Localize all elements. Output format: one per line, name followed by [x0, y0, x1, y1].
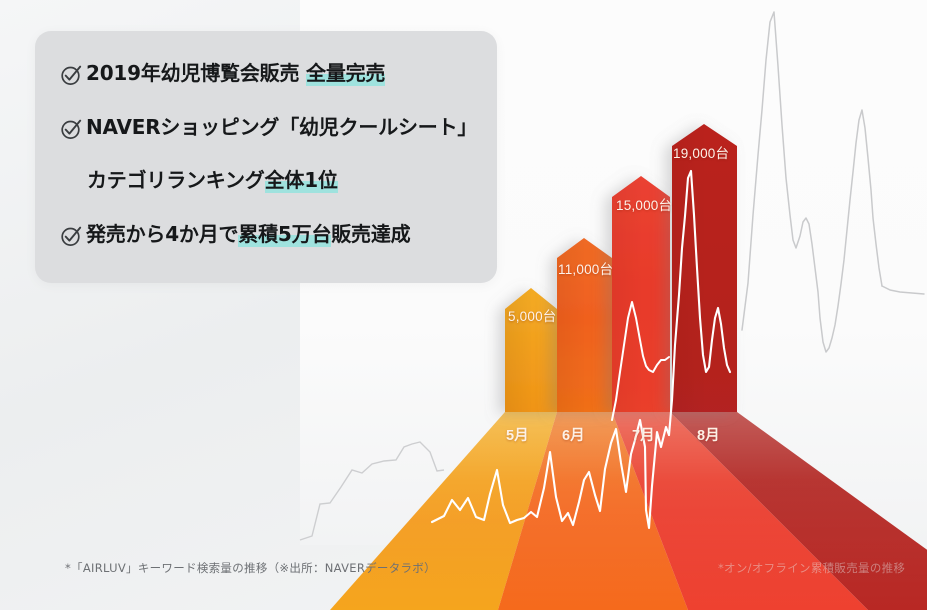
caption-left: *「AIRLUV」キーワード検索量の推移（※出所：NAVERデータラボ） — [65, 560, 436, 576]
claim-text-2-line2: カテゴリランキング全体1位 — [87, 169, 338, 192]
check-circle-icon — [59, 63, 83, 87]
month-label-7: 7月 — [632, 424, 655, 445]
bar-8 — [672, 124, 737, 412]
claim-3-plain-a: 発売から4か月で — [86, 222, 238, 246]
month-label-6: 6月 — [562, 424, 585, 445]
claim-text-1: 2019年幼児博覧会販売 全量完売 — [86, 62, 385, 85]
bar-value-label-7: 15,000台 — [616, 194, 672, 214]
claim-text-2-line1: NAVERショッピング「幼児クールシート」 — [86, 116, 477, 139]
claim-item-2-line2: カテゴリランキング全体1位 — [87, 169, 338, 192]
month-label-5: 5月 — [506, 424, 529, 445]
bar-value-label-8: 19,000台 — [673, 142, 729, 162]
claim-3-plain-b: 販売達成 — [331, 222, 410, 246]
bar-value-label-6: 11,000台 — [558, 258, 613, 278]
claim-1-plain: 2019年幼児博覧会販売 — [86, 61, 306, 85]
month-label-8: 8月 — [697, 424, 720, 445]
check-circle-icon — [59, 224, 83, 248]
claim-2-plain: カテゴリランキング — [87, 168, 265, 192]
claim-item-2: NAVERショッピング「幼児クールシート」 — [59, 116, 477, 140]
slide-canvas: 5,000台 11,000台 15,000台 19,000台 5月 6月 7月 … — [0, 0, 927, 610]
claim-1-highlight: 全量完売 — [306, 61, 385, 86]
claim-text-3: 発売から4か月で累積5万台販売達成 — [86, 223, 410, 246]
caption-right: *オン/オフライン累積販売量の推移 — [718, 560, 905, 576]
bar-value-label-5: 5,000台 — [508, 305, 556, 325]
claim-item-1: 2019年幼児博覧会販売 全量完売 — [59, 62, 385, 86]
claims-panel: 2019年幼児博覧会販売 全量完売 NAVERショッピング「幼児クールシート」 … — [35, 31, 497, 283]
claim-2-highlight: 全体1位 — [265, 168, 338, 193]
claim-3-highlight: 累積5万台 — [238, 222, 331, 247]
check-circle-icon — [59, 117, 83, 141]
claim-item-3: 発売から4か月で累積5万台販売達成 — [59, 223, 410, 247]
